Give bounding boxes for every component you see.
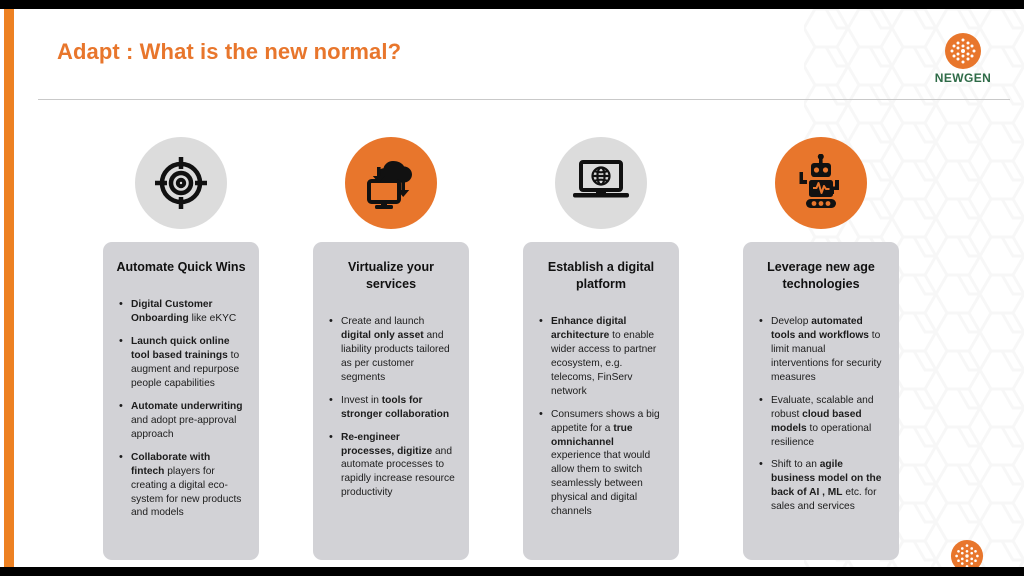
bullet-item: Automate underwriting and adopt pre-appr… xyxy=(118,400,245,442)
bullet-list: Digital Customer Onboarding like eKYCLau… xyxy=(115,298,247,521)
card-title: Leverage new age technologies xyxy=(755,259,887,293)
bullet-list: Create and launch digital only asset and… xyxy=(325,315,457,501)
newgen-wordmark: NEWGEN xyxy=(928,71,998,85)
bullet-item: Evaluate, scalable and robust cloud base… xyxy=(758,394,885,450)
card-leverage-new-age-technologies: Leverage new age technologies Develop au… xyxy=(743,242,899,560)
card-title: Establish a digital platform xyxy=(535,259,667,293)
bullet-list: Enhance digital architecture to enable w… xyxy=(535,315,667,520)
bullet-item: Shift to an agile business model on the … xyxy=(758,458,885,514)
letterbox-top xyxy=(0,0,1024,9)
card-virtualize-your-services: Virtualize your services Create and laun… xyxy=(313,242,469,560)
card-establish-a-digital-platform: Establish a digital platform Enhance dig… xyxy=(523,242,679,560)
laptop-globe-icon xyxy=(555,137,647,229)
letterbox-bottom xyxy=(0,567,1024,576)
cloud-monitor-sync-icon xyxy=(345,137,437,229)
newgen-corner-mark-icon xyxy=(950,539,984,567)
bullet-item: Digital Customer Onboarding like eKYC xyxy=(118,298,245,326)
card-automate-quick-wins: Automate Quick Wins Digital Customer Onb… xyxy=(103,242,259,560)
bullet-item: Invest in tools for stronger collaborati… xyxy=(328,394,455,422)
bullet-item: Create and launch digital only asset and… xyxy=(328,315,455,385)
card-title: Automate Quick Wins xyxy=(115,259,247,276)
bullet-item: Enhance digital architecture to enable w… xyxy=(538,315,665,399)
left-accent-bar xyxy=(4,9,14,567)
bullet-item: Develop automated tools and workflows to… xyxy=(758,315,885,385)
bullet-item: Launch quick online tool based trainings… xyxy=(118,335,245,391)
newgen-logo: NEWGEN xyxy=(928,33,998,89)
bullet-list: Develop automated tools and workflows to… xyxy=(755,315,887,515)
card-title: Virtualize your services xyxy=(325,259,457,293)
bullet-item: Consumers shows a big appetite for a tru… xyxy=(538,408,665,520)
robot-icon xyxy=(775,137,867,229)
title-divider xyxy=(38,99,1010,100)
newgen-dotted-circle-icon xyxy=(945,33,981,69)
slide-canvas: Adapt : What is the new normal? NEWGEN xyxy=(0,9,1024,567)
target-crosshair-icon xyxy=(135,137,227,229)
bullet-item: Collaborate with fintech players for cre… xyxy=(118,451,245,521)
page-title: Adapt : What is the new normal? xyxy=(57,39,401,65)
bullet-item: Re-engineer processes, digitize and auto… xyxy=(328,431,455,501)
